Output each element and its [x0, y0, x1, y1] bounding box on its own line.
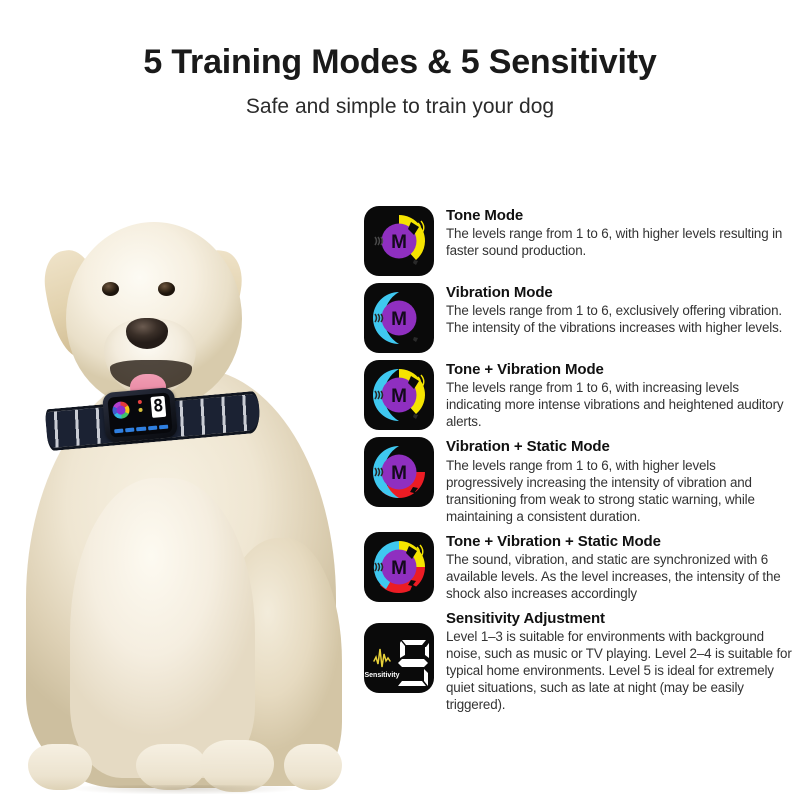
- svg-text:M: M: [391, 558, 407, 579]
- feature-text: Vibration + Static Mode The levels range…: [446, 437, 794, 524]
- feature-icon-wrap: M: [364, 437, 434, 507]
- feature-title: Tone + Vibration Mode: [446, 361, 794, 378]
- mode-color-wheel-icon: [112, 401, 130, 419]
- feature-title: Tone Mode: [446, 207, 794, 224]
- page-header: 5 Training Modes & 5 Sensitivity Safe an…: [0, 0, 800, 118]
- feature-description: Level 1–3 is suitable for environments w…: [446, 628, 794, 713]
- tone-mode-icon: M: [364, 206, 434, 276]
- tone-vibration-mode-icon: M: [364, 360, 434, 430]
- product-photo: 8: [0, 150, 360, 800]
- dog-eye-right: [158, 282, 175, 296]
- feature-item: M Tone + Vibr: [364, 360, 794, 430]
- feature-text: Sensitivity Adjustment Level 1–3 is suit…: [446, 609, 794, 713]
- feature-text: Tone Mode The levels range from 1 to 6, …: [446, 206, 794, 259]
- feature-icon-wrap: M: [364, 283, 434, 353]
- feature-icon-wrap: M: [364, 360, 434, 430]
- feature-title: Tone + Vibration + Static Mode: [446, 533, 794, 550]
- level-bar: [114, 429, 124, 434]
- level-bar: [159, 425, 169, 430]
- vibration-mode-icon: M: [364, 283, 434, 353]
- feature-item: M Tone Mode: [364, 206, 794, 276]
- feature-description: The levels range from 1 to 6, exclusivel…: [446, 302, 794, 336]
- feature-title: Vibration Mode: [446, 284, 794, 301]
- feature-text: Tone + Vibration Mode The levels range f…: [446, 360, 794, 430]
- feature-icon-wrap: M: [364, 206, 434, 276]
- dog-paw: [284, 744, 342, 790]
- collar-device: 8: [102, 387, 178, 443]
- feature-item: Sensitivity Sensitivity Adjustment Level…: [364, 609, 794, 713]
- device-level-digit: 8: [150, 396, 166, 418]
- feature-title: Vibration + Static Mode: [446, 438, 794, 455]
- led-yellow: [138, 408, 142, 412]
- svg-text:Sensitivity: Sensitivity: [364, 672, 399, 679]
- feature-list: M Tone Mode: [364, 206, 794, 713]
- ground-shadow: [24, 785, 344, 794]
- dog-illustration: 8: [18, 178, 348, 796]
- device-screen: 8: [107, 392, 172, 437]
- dog-eye-left: [102, 282, 119, 296]
- feature-icon-wrap: M: [364, 532, 434, 602]
- feature-title: Sensitivity Adjustment: [446, 610, 794, 627]
- sensitivity-icon: Sensitivity: [364, 623, 434, 693]
- level-bar: [125, 428, 135, 433]
- feature-description: The levels range from 1 to 6, with highe…: [446, 457, 794, 525]
- feature-text: Vibration Mode The levels range from 1 t…: [446, 283, 794, 336]
- svg-text:M: M: [391, 309, 407, 330]
- device-led-indicators: [134, 399, 148, 418]
- tone-vibration-static-mode-icon: M: [364, 532, 434, 602]
- feature-item: M Tone + Vibr: [364, 532, 794, 602]
- dog-paw: [28, 744, 92, 790]
- page-subtitle: Safe and simple to train your dog: [0, 95, 800, 118]
- vibration-static-mode-icon: M: [364, 437, 434, 507]
- page-title: 5 Training Modes & 5 Sensitivity: [0, 44, 800, 81]
- dog-chest: [70, 478, 255, 778]
- svg-text:M: M: [391, 232, 407, 253]
- led-red: [138, 400, 142, 404]
- feature-description: The levels range from 1 to 6, with incre…: [446, 379, 794, 430]
- feature-text: Tone + Vibration + Static Mode The sound…: [446, 532, 794, 602]
- level-bar: [136, 427, 146, 432]
- feature-icon-wrap: Sensitivity: [364, 609, 434, 693]
- feature-description: The levels range from 1 to 6, with highe…: [446, 225, 794, 259]
- svg-text:M: M: [391, 463, 407, 484]
- feature-description: The sound, vibration, and static are syn…: [446, 551, 794, 602]
- level-bar: [148, 426, 158, 431]
- feature-item: M Vibration + Static Mode The levels ran…: [364, 437, 794, 524]
- dog-paw: [136, 744, 206, 790]
- feature-item: M Vibration Mode The levels range from 1…: [364, 283, 794, 353]
- svg-text:M: M: [391, 386, 407, 407]
- device-level-bars: [114, 425, 168, 434]
